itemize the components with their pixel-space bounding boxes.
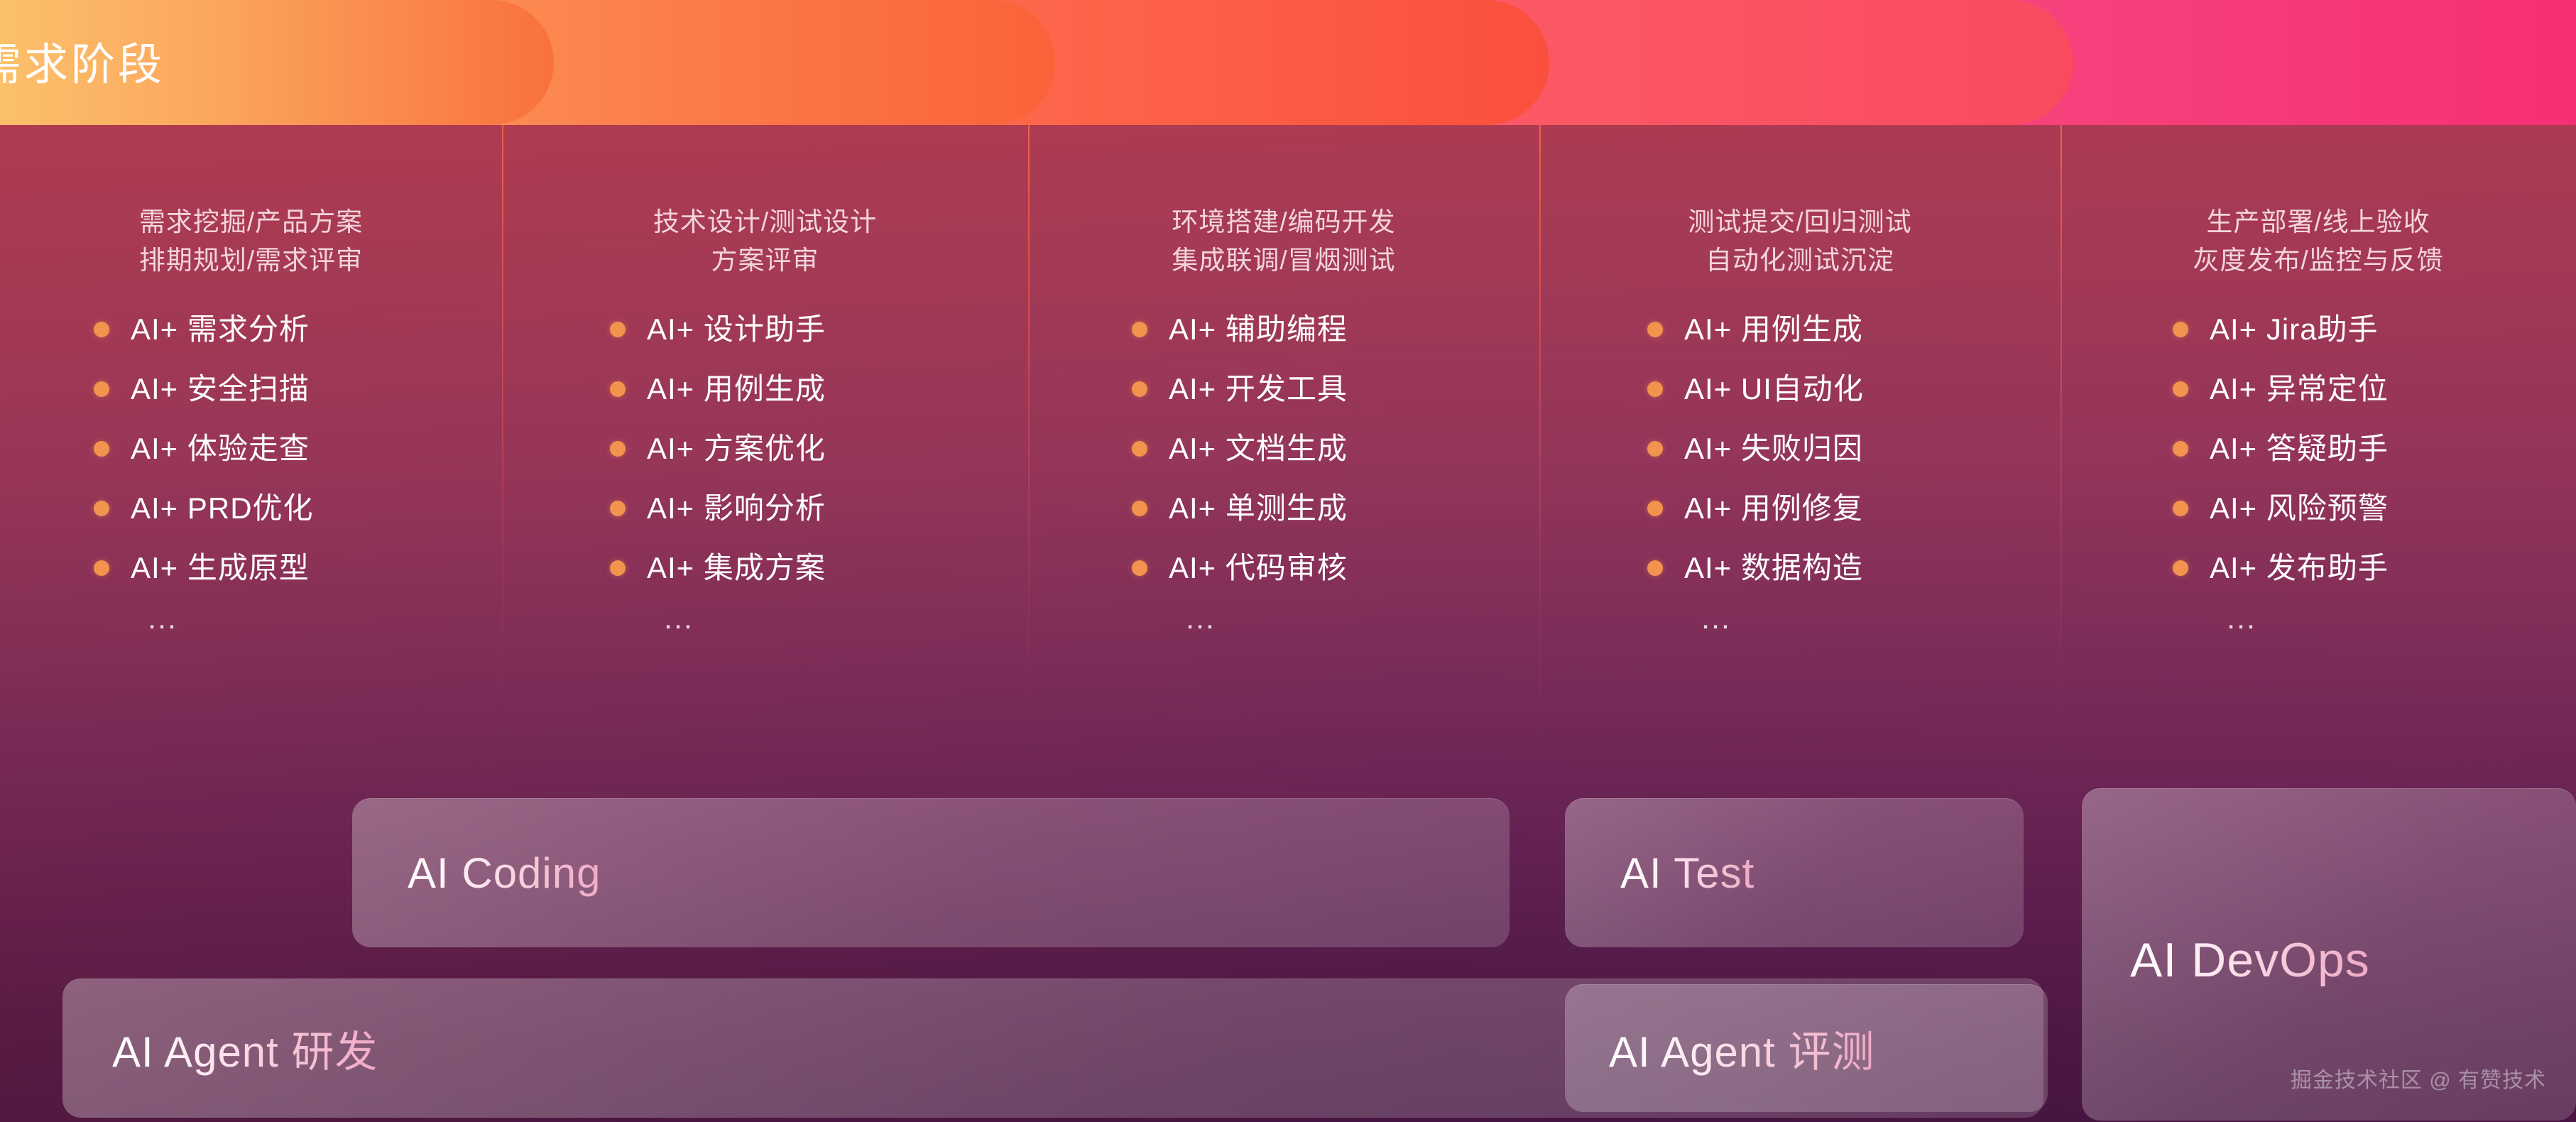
list-item[interactable]: AI+ 体验走查 xyxy=(94,434,502,464)
bullet-label: AI+ 集成方案 xyxy=(647,553,826,583)
ai-coding-bar[interactable]: AI Coding xyxy=(352,798,1510,947)
bullet-dot-icon xyxy=(1132,381,1147,397)
column-subtitle-1: 需求挖掘/产品方案 排期规划/需求评审 xyxy=(0,203,502,279)
stage-column-5: 生产部署/线上验收 灰度发布/监控与反馈 AI+ Jira助手 AI+ 异常定位… xyxy=(2061,125,2576,764)
list-item[interactable]: AI+ 方案优化 xyxy=(610,434,1028,464)
list-item[interactable]: AI+ 设计助手 xyxy=(610,315,1028,344)
bullet-label: AI+ 开发工具 xyxy=(1169,374,1348,404)
stage-columns: 需求挖掘/产品方案 排期规划/需求评审 AI+ 需求分析 AI+ 安全扫描 AI… xyxy=(0,125,2576,764)
list-item[interactable]: AI+ 发布助手 xyxy=(2173,553,2576,583)
bullet-dot-icon xyxy=(2173,322,2188,337)
column-more-4: … xyxy=(1700,603,2061,634)
bullet-dot-icon xyxy=(1647,560,1663,576)
bullet-label: AI+ 用例生成 xyxy=(647,374,826,404)
column-subtitle-2: 技术设计/测试设计 方案评审 xyxy=(502,203,1028,279)
bullet-label: AI+ 数据构造 xyxy=(1684,553,1863,583)
bullet-label: AI+ 辅助编程 xyxy=(1169,315,1348,344)
capability-map-diagram: 上线运营 测试阶段 编码阶段 设计阶段 需求阶段 需求挖掘/产品方案 排期规划/… xyxy=(0,0,2576,1122)
bullet-label: AI+ 安全扫描 xyxy=(131,374,310,404)
list-item[interactable]: AI+ UI自动化 xyxy=(1647,374,2061,404)
bullet-dot-icon xyxy=(2173,501,2188,516)
column-bullets-3: AI+ 辅助编程 AI+ 开发工具 AI+ 文档生成 AI+ 单测生成 AI+ … xyxy=(1132,315,1539,583)
bullet-label: AI+ 发布助手 xyxy=(2210,553,2389,583)
bullet-label: AI+ 代码审核 xyxy=(1169,553,1348,583)
bullet-label: AI+ 生成原型 xyxy=(131,553,310,583)
list-item[interactable]: AI+ 用例生成 xyxy=(610,374,1028,404)
bullet-label: AI+ Jira助手 xyxy=(2210,315,2379,344)
bullet-label: AI+ 设计助手 xyxy=(647,315,826,344)
column-subtitle-5: 生产部署/线上验收 灰度发布/监控与反馈 xyxy=(2061,203,2576,279)
list-item[interactable]: AI+ 文档生成 xyxy=(1132,434,1539,464)
bullet-label: AI+ 单测生成 xyxy=(1169,494,1348,523)
bullet-dot-icon xyxy=(1132,501,1147,516)
column-bullets-5: AI+ Jira助手 AI+ 异常定位 AI+ 答疑助手 AI+ 风险预警 AI… xyxy=(2173,315,2576,583)
stage-pill-1[interactable]: 需求阶段 xyxy=(0,0,554,125)
stage-label-1: 需求阶段 xyxy=(0,28,165,92)
stage-column-3: 环境搭建/编码开发 集成联调/冒烟测试 AI+ 辅助编程 AI+ 开发工具 AI… xyxy=(1028,125,1539,764)
column-bullets-1: AI+ 需求分析 AI+ 安全扫描 AI+ 体验走查 AI+ PRD优化 AI+… xyxy=(94,315,502,583)
list-item[interactable]: AI+ PRD优化 xyxy=(94,494,502,523)
bullet-label: AI+ 风险预警 xyxy=(2210,494,2389,523)
bullet-label: AI+ 需求分析 xyxy=(131,315,310,344)
bullet-label: AI+ 影响分析 xyxy=(647,494,826,523)
column-bullets-2: AI+ 设计助手 AI+ 用例生成 AI+ 方案优化 AI+ 影响分析 AI+ … xyxy=(610,315,1028,583)
list-item[interactable]: AI+ Jira助手 xyxy=(2173,315,2576,344)
bullet-dot-icon xyxy=(2173,441,2188,457)
ai-agent-eval-bar[interactable]: AI Agent 评测 xyxy=(1565,984,2048,1112)
bullet-dot-icon xyxy=(1132,560,1147,576)
bullet-dot-icon xyxy=(610,322,626,337)
column-more-5: … xyxy=(2225,603,2576,634)
list-item[interactable]: AI+ 需求分析 xyxy=(94,315,502,344)
list-item[interactable]: AI+ 辅助编程 xyxy=(1132,315,1539,344)
bullet-dot-icon xyxy=(610,441,626,457)
bullet-label: AI+ 用例修复 xyxy=(1684,494,1863,523)
bullet-dot-icon xyxy=(1132,441,1147,457)
bullet-dot-icon xyxy=(1647,441,1663,457)
bullet-label: AI+ 体验走查 xyxy=(131,434,310,464)
bullet-dot-icon xyxy=(94,441,109,457)
bullet-dot-icon xyxy=(94,560,109,576)
bullet-label: AI+ 失败归因 xyxy=(1684,434,1863,464)
bullet-label: AI+ 答疑助手 xyxy=(2210,434,2389,464)
list-item[interactable]: AI+ 单测生成 xyxy=(1132,494,1539,523)
list-item[interactable]: AI+ 答疑助手 xyxy=(2173,434,2576,464)
ai-agent-eval-label: AI Agent 评测 xyxy=(1609,1018,1875,1079)
column-more-3: … xyxy=(1184,603,1539,634)
ai-agent-dev-label: AI Agent 研发 xyxy=(112,1018,378,1079)
bullet-dot-icon xyxy=(1132,322,1147,337)
bullet-dot-icon xyxy=(94,322,109,337)
list-item[interactable]: AI+ 失败归因 xyxy=(1647,434,2061,464)
list-item[interactable]: AI+ 代码审核 xyxy=(1132,553,1539,583)
bullet-dot-icon xyxy=(610,381,626,397)
stage-column-4: 测试提交/回归测试 自动化测试沉淀 AI+ 用例生成 AI+ UI自动化 AI+… xyxy=(1539,125,2061,764)
bullet-label: AI+ PRD优化 xyxy=(131,494,314,523)
ai-devops-label: AI DevOps xyxy=(2130,932,2370,988)
bullet-label: AI+ 用例生成 xyxy=(1684,315,1863,344)
bullet-dot-icon xyxy=(2173,560,2188,576)
list-item[interactable]: AI+ 生成原型 xyxy=(94,553,502,583)
stage-column-2: 技术设计/测试设计 方案评审 AI+ 设计助手 AI+ 用例生成 AI+ 方案优… xyxy=(502,125,1028,764)
bullet-label: AI+ UI自动化 xyxy=(1684,374,1864,404)
column-bullets-4: AI+ 用例生成 AI+ UI自动化 AI+ 失败归因 AI+ 用例修复 AI+… xyxy=(1647,315,2061,583)
ai-test-label: AI Test xyxy=(1620,849,1754,898)
stage-header-bar: 上线运营 测试阶段 编码阶段 设计阶段 需求阶段 xyxy=(0,0,2576,125)
bullet-dot-icon xyxy=(610,560,626,576)
list-item[interactable]: AI+ 异常定位 xyxy=(2173,374,2576,404)
list-item[interactable]: AI+ 开发工具 xyxy=(1132,374,1539,404)
column-subtitle-4: 测试提交/回归测试 自动化测试沉淀 xyxy=(1539,203,2061,279)
bullet-label: AI+ 异常定位 xyxy=(2210,374,2389,404)
column-more-1: … xyxy=(146,603,502,634)
ai-test-bar[interactable]: AI Test xyxy=(1565,798,2024,947)
bullet-dot-icon xyxy=(94,501,109,516)
watermark: 掘金技术社区 @ 有赞技术 xyxy=(2291,1062,2546,1094)
list-item[interactable]: AI+ 影响分析 xyxy=(610,494,1028,523)
ai-coding-label: AI Coding xyxy=(408,849,601,898)
bullet-label: AI+ 文档生成 xyxy=(1169,434,1348,464)
list-item[interactable]: AI+ 安全扫描 xyxy=(94,374,502,404)
list-item[interactable]: AI+ 风险预警 xyxy=(2173,494,2576,523)
bullet-dot-icon xyxy=(94,381,109,397)
list-item[interactable]: AI+ 集成方案 xyxy=(610,553,1028,583)
list-item[interactable]: AI+ 数据构造 xyxy=(1647,553,2061,583)
bullet-dot-icon xyxy=(2173,381,2188,397)
column-more-2: … xyxy=(662,603,1028,634)
list-item[interactable]: AI+ 用例生成 xyxy=(1647,315,2061,344)
stage-column-1: 需求挖掘/产品方案 排期规划/需求评审 AI+ 需求分析 AI+ 安全扫描 AI… xyxy=(0,125,502,764)
bullet-dot-icon xyxy=(1647,381,1663,397)
bullet-label: AI+ 方案优化 xyxy=(647,434,826,464)
bullet-dot-icon xyxy=(1647,322,1663,337)
list-item[interactable]: AI+ 用例修复 xyxy=(1647,494,2061,523)
column-subtitle-3: 环境搭建/编码开发 集成联调/冒烟测试 xyxy=(1028,203,1539,279)
bullet-dot-icon xyxy=(610,501,626,516)
bullet-dot-icon xyxy=(1647,501,1663,516)
